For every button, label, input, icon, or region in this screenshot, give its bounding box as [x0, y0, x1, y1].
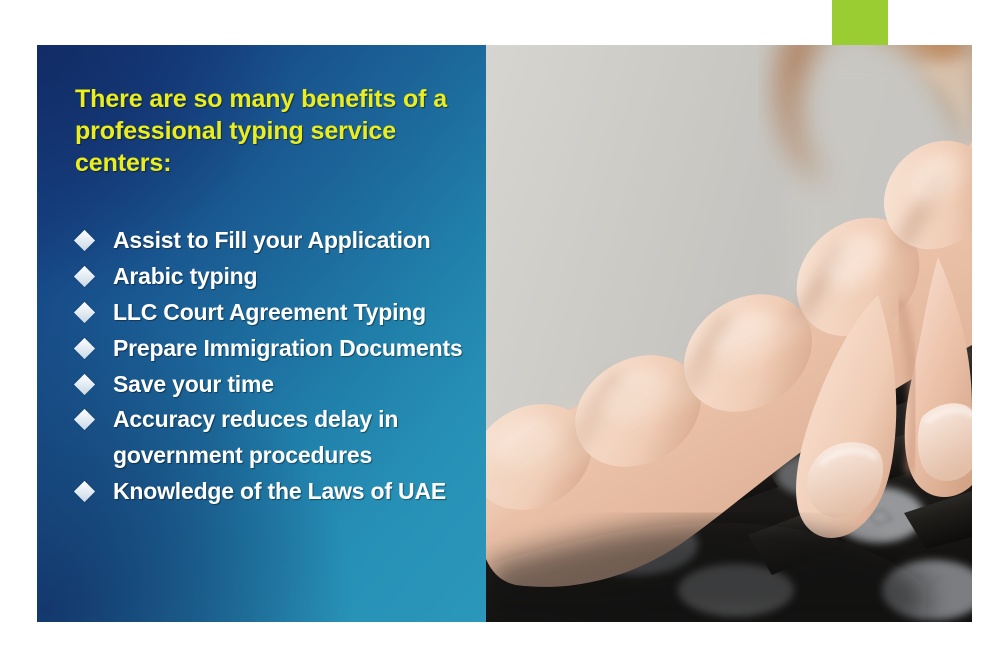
- diamond-bullet-icon: [74, 409, 95, 430]
- list-item-label: Save your time: [113, 371, 274, 397]
- list-item-label: Prepare Immigration Documents: [113, 335, 463, 361]
- list-item: LLC Court Agreement Typing: [75, 295, 475, 331]
- diamond-bullet-icon: [74, 338, 95, 359]
- diamond-bullet-icon: [74, 481, 95, 502]
- list-item-label: Knowledge of the Laws of UAE: [113, 478, 446, 504]
- panel-content: There are so many benefits of a professi…: [37, 45, 486, 510]
- list-item-label: Assist to Fill your Application: [113, 227, 431, 253]
- list-item: Accuracy reduces delay in government pro…: [75, 402, 475, 474]
- benefits-list: Assist to Fill your Application Arabic t…: [75, 223, 475, 510]
- slide-canvas: There are so many benefits of a professi…: [0, 0, 1000, 650]
- list-item: Assist to Fill your Application: [75, 223, 475, 259]
- list-item: Arabic typing: [75, 259, 475, 295]
- diamond-bullet-icon: [74, 302, 95, 323]
- list-item: Knowledge of the Laws of UAE: [75, 474, 475, 510]
- page-title: There are so many benefits of a professi…: [75, 83, 470, 179]
- list-item-label: LLC Court Agreement Typing: [113, 299, 426, 325]
- typing-hand-photo: [486, 45, 972, 622]
- diamond-bullet-icon: [74, 266, 95, 287]
- list-item-label: Arabic typing: [113, 263, 257, 289]
- benefits-text-panel: There are so many benefits of a professi…: [37, 45, 486, 622]
- diamond-bullet-icon: [74, 373, 95, 394]
- green-accent-bar: [832, 0, 888, 46]
- list-item: Prepare Immigration Documents: [75, 331, 475, 367]
- list-item-label: Accuracy reduces delay in government pro…: [113, 406, 398, 468]
- diamond-bullet-icon: [74, 230, 95, 251]
- list-item: Save your time: [75, 367, 475, 403]
